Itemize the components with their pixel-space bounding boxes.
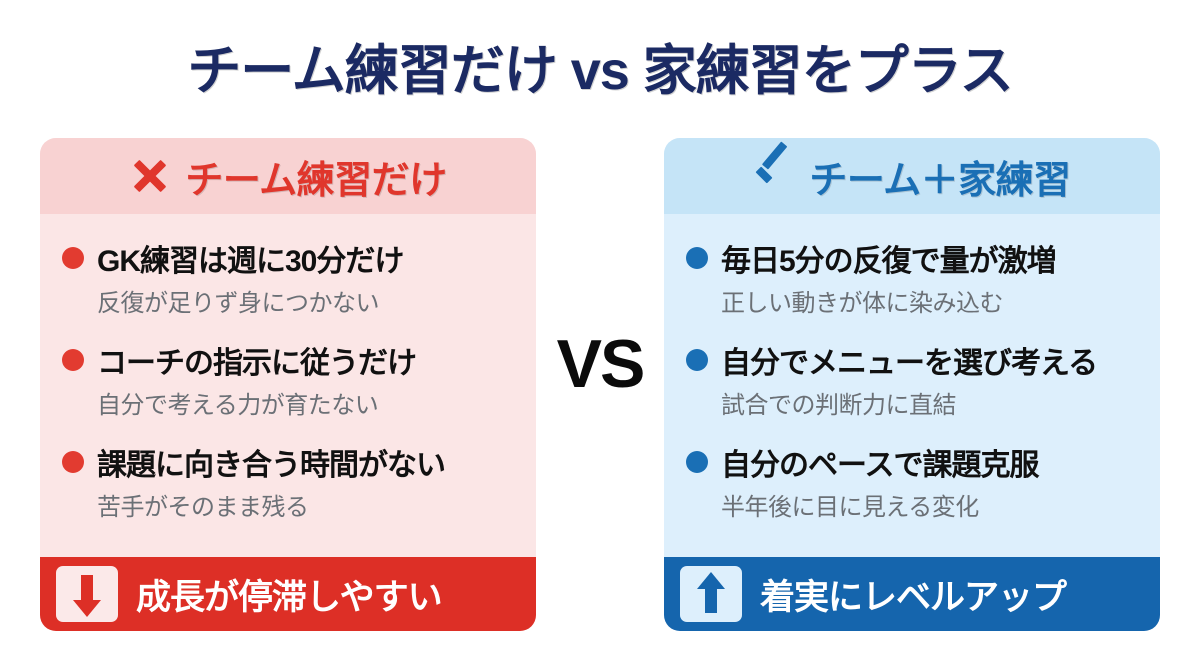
list-item: 毎日5分の反復で量が激増 正しい動きが体に染み込む	[686, 236, 1140, 318]
panel-header-negative: チーム練習だけ	[40, 138, 536, 214]
list-item-title: コーチの指示に従うだけ	[97, 338, 416, 382]
list-item-subtitle: 反復が足りず身につかない	[97, 283, 516, 318]
list-item-head: コーチの指示に従うだけ	[62, 338, 516, 382]
comparison-panel-negative: チーム練習だけ GK練習は週に30分だけ 反復が足りず身につかない コーチの指示…	[40, 138, 536, 631]
cross-icon	[129, 155, 171, 197]
panel-header-positive-label: チーム＋家練習	[809, 149, 1070, 204]
list-item-title: 毎日5分の反復で量が激増	[721, 236, 1056, 280]
list-item-head: 毎日5分の反復で量が激増	[686, 236, 1140, 280]
bullet-dot-icon	[62, 349, 84, 371]
bullet-dot-icon	[62, 247, 84, 269]
panel-footer-positive-label: 着実にレベルアップ	[760, 569, 1066, 620]
list-item: 課題に向き合う時間がない 苦手がそのまま残る	[62, 440, 516, 522]
list-item-head: 課題に向き合う時間がない	[62, 440, 516, 484]
check-icon	[753, 155, 795, 197]
panel-header-negative-label: チーム練習だけ	[185, 149, 446, 204]
arrow-up-icon	[680, 566, 742, 622]
arrow-head	[697, 572, 725, 589]
list-item: 自分のペースで課題克服 半年後に目に見える変化	[686, 440, 1140, 522]
list-item-title: GK練習は週に30分だけ	[97, 236, 403, 280]
panel-header-positive: チーム＋家練習	[664, 138, 1160, 214]
bullet-dot-icon	[686, 451, 708, 473]
list-item-head: GK練習は週に30分だけ	[62, 236, 516, 280]
bullet-dot-icon	[62, 451, 84, 473]
list-item: コーチの指示に従うだけ 自分で考える力が育たない	[62, 338, 516, 420]
arrow-down-icon	[56, 566, 118, 622]
arrow-head	[73, 600, 101, 617]
list-item-title: 自分のペースで課題克服	[721, 440, 1039, 484]
list-item-head: 自分のペースで課題克服	[686, 440, 1140, 484]
comparison-panel-positive: チーム＋家練習 毎日5分の反復で量が激増 正しい動きが体に染み込む 自分でメニュ…	[664, 138, 1160, 631]
list-item-subtitle: 試合での判断力に直結	[721, 385, 1140, 420]
list-item: GK練習は週に30分だけ 反復が足りず身につかない	[62, 236, 516, 318]
panel-footer-positive: 着実にレベルアップ	[664, 557, 1160, 631]
list-item-subtitle: 半年後に目に見える変化	[721, 487, 1140, 522]
list-item-subtitle: 正しい動きが体に染み込む	[721, 283, 1140, 318]
bullet-dot-icon	[686, 349, 708, 371]
list-item-subtitle: 自分で考える力が育たない	[97, 385, 516, 420]
list-item-title: 自分でメニューを選び考える	[721, 338, 1097, 382]
page-title: チーム練習だけ vs 家練習をプラス	[0, 26, 1200, 105]
list-item: 自分でメニューを選び考える 試合での判断力に直結	[686, 338, 1140, 420]
panel-footer-negative-label: 成長が停滞しやすい	[136, 569, 442, 620]
bullet-dot-icon	[686, 247, 708, 269]
list-item-head: 自分でメニューを選び考える	[686, 338, 1140, 382]
list-item-title: 課題に向き合う時間がない	[97, 440, 445, 484]
vs-badge: VS	[536, 330, 664, 398]
panel-footer-negative: 成長が停滞しやすい	[40, 557, 536, 631]
list-item-subtitle: 苦手がそのまま残る	[97, 487, 516, 522]
panel-body-negative: GK練習は週に30分だけ 反復が足りず身につかない コーチの指示に従うだけ 自分…	[40, 214, 536, 557]
panel-body-positive: 毎日5分の反復で量が激増 正しい動きが体に染み込む 自分でメニューを選び考える …	[664, 214, 1160, 557]
